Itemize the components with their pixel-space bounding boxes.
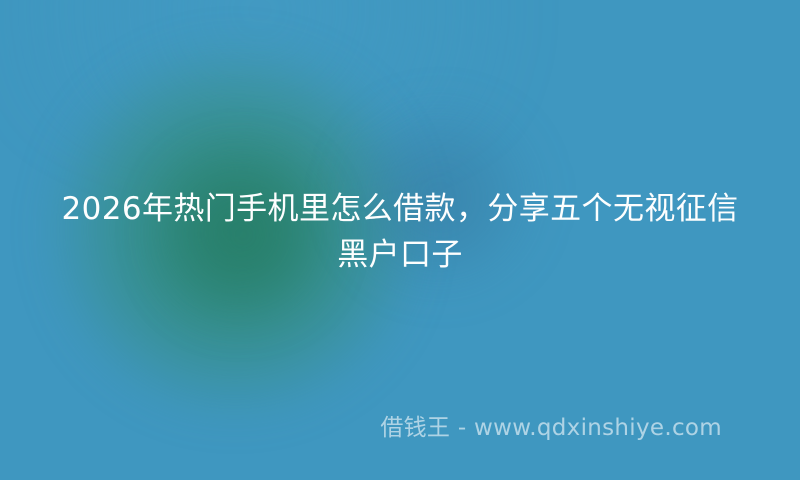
cover-headline: 2026年热门手机里怎么借款，分享五个无视征信 黑户口子	[0, 186, 800, 278]
site-watermark: 借钱王 - www.qdxinshiye.com	[380, 408, 722, 442]
background-top-highlight-blob	[0, 0, 580, 160]
article-cover-banner: 2026年热门手机里怎么借款，分享五个无视征信 黑户口子 借钱王 - www.q…	[0, 0, 800, 480]
